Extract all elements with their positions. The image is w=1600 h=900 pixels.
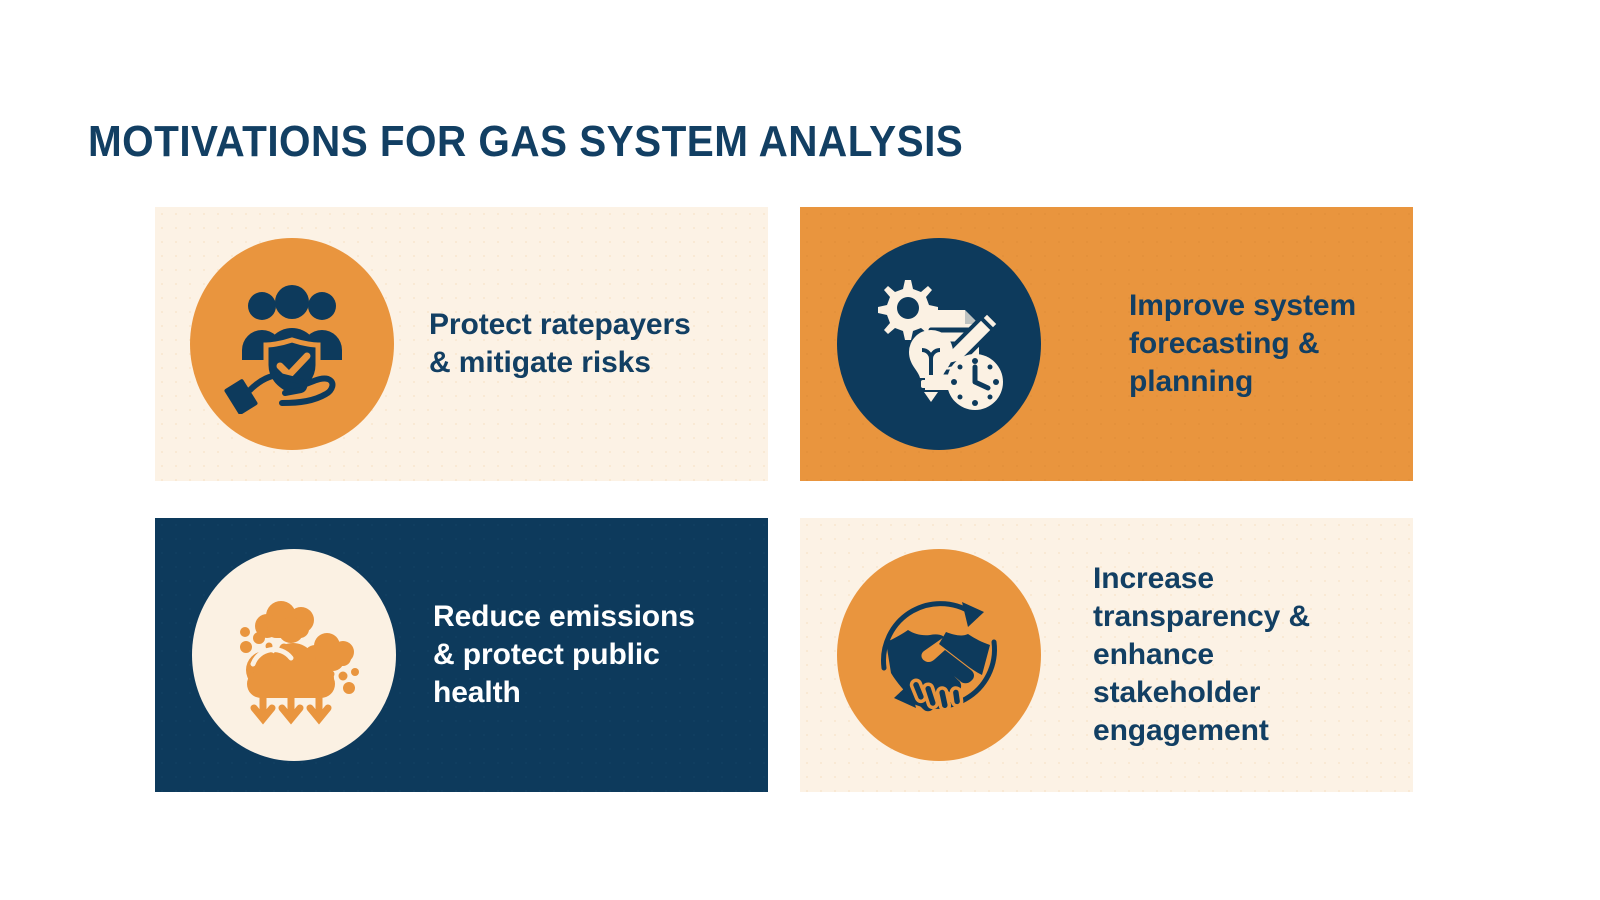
lightbulb-icon (909, 330, 953, 402)
down-arrows (254, 684, 328, 719)
icon-circle (192, 549, 396, 761)
card-icon-container (835, 549, 1043, 761)
motivations-card-grid: Protect ratepayers & mitigate risks (155, 207, 1413, 792)
card-reduce-emissions[interactable]: Reduce emissions & protect public health (155, 518, 768, 792)
people-shield-hand-icon (222, 274, 362, 414)
card-icon-container (190, 549, 398, 761)
card-label: Protect ratepayers & mitigate risks (396, 306, 768, 382)
icon-circle (190, 238, 394, 450)
card-protect-ratepayers[interactable]: Protect ratepayers & mitigate risks (155, 207, 768, 481)
handshake-cycle-icon (868, 584, 1010, 726)
card-improve-forecasting[interactable]: Improve system forecasting & planning (800, 207, 1413, 481)
card-label: Improve system forecasting & planning (1043, 287, 1413, 401)
card-label: Reduce emissions & protect public health (398, 598, 768, 712)
clock-icon (947, 354, 1003, 410)
card-increase-transparency[interactable]: Increase transparency & enhance stakehol… (800, 518, 1413, 792)
arrow-head-top (962, 602, 984, 627)
emission-clouds-arrows-icon (223, 584, 365, 726)
icon-circle (837, 238, 1041, 450)
card-icon-container (835, 238, 1043, 450)
page-title: MOTIVATIONS FOR GAS SYSTEM ANALYSIS (88, 117, 963, 167)
gear-document-bulb-clock-icon (869, 274, 1009, 414)
card-icon-container (188, 238, 396, 450)
icon-circle (837, 549, 1041, 761)
card-label: Increase transparency & enhance stakehol… (1043, 560, 1413, 750)
